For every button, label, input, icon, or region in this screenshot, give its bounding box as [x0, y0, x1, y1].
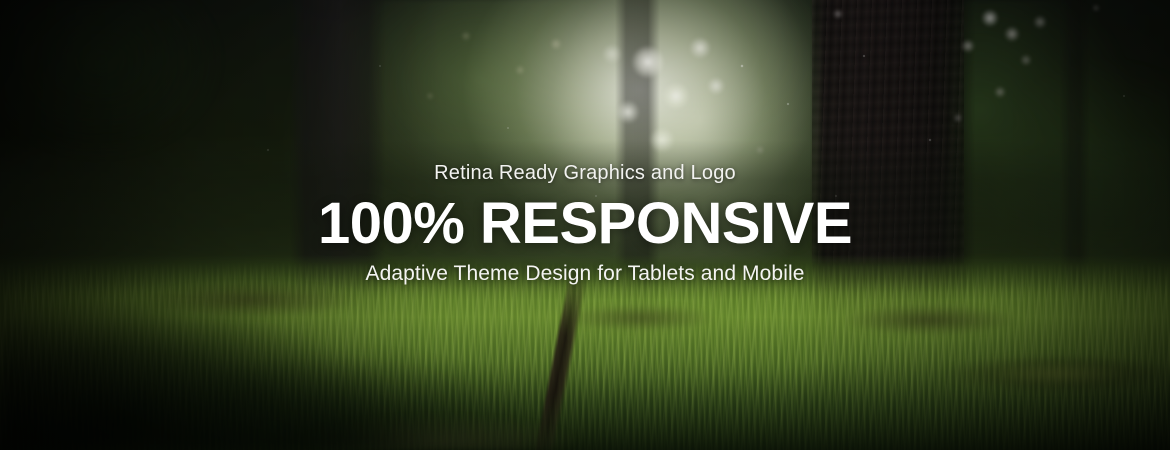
- hero-banner: Retina Ready Graphics and Logo 100% RESP…: [0, 0, 1170, 450]
- hero-eyebrow: Retina Ready Graphics and Logo: [0, 160, 1170, 186]
- hero-copy-block: Retina Ready Graphics and Logo 100% RESP…: [0, 160, 1170, 288]
- hero-headline: 100% RESPONSIVE: [0, 192, 1170, 256]
- hero-subline: Adaptive Theme Design for Tablets and Mo…: [0, 260, 1170, 288]
- background-grass-blades: [0, 262, 1170, 450]
